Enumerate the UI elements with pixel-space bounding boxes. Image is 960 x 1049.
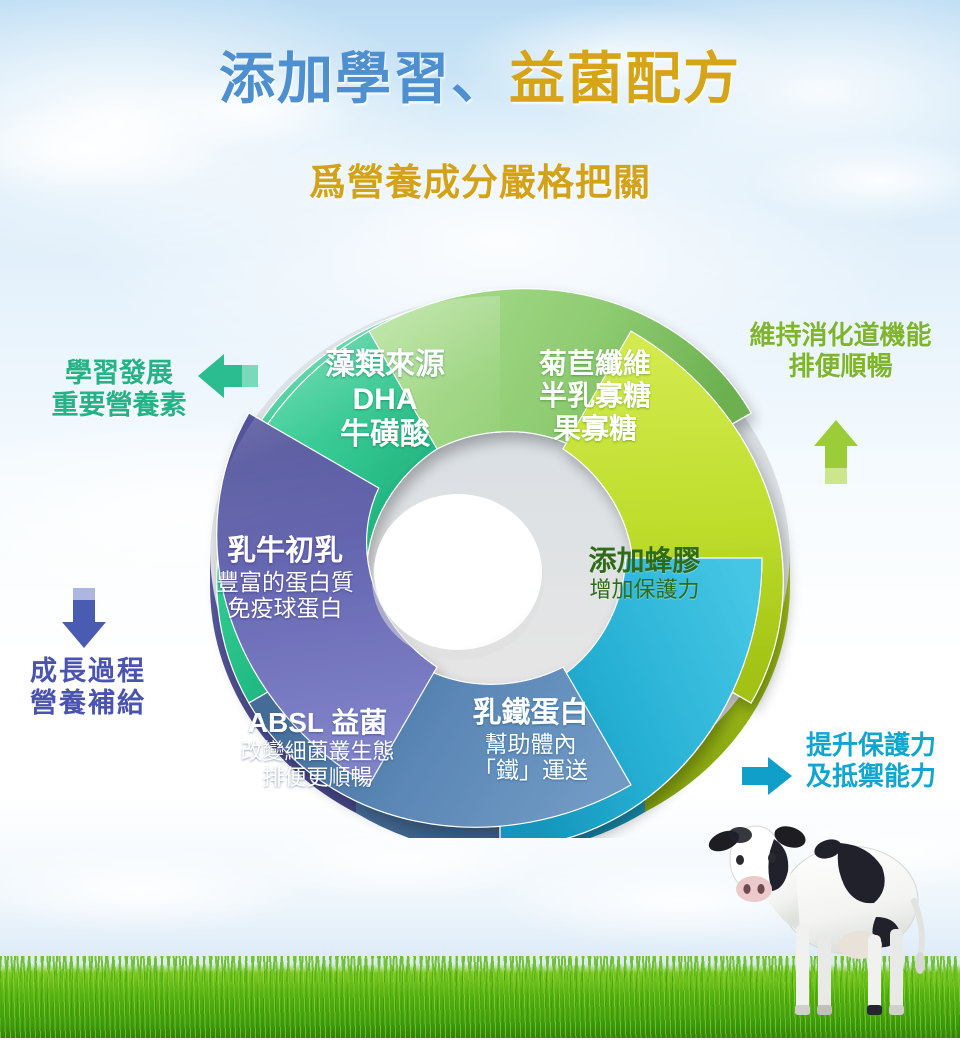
- title-part-blue: 添加學習: [219, 47, 451, 110]
- cow-illustration: [700, 805, 960, 1039]
- donut-hub: [374, 494, 542, 650]
- title-punctuation: 、: [451, 47, 509, 110]
- page-title: 添加學習、益菌配方: [0, 48, 960, 111]
- donut-chart-svg: [190, 258, 810, 838]
- callout-learning: 學習發展 重要營養素: [34, 357, 204, 422]
- callout-digest-line1: 維持消化道機能: [728, 320, 953, 351]
- callout-growth: 成長過程 營養補給: [8, 655, 168, 720]
- infographic-page: 添加學習、益菌配方 爲營養成分嚴格把關: [0, 0, 960, 1049]
- callout-protect-line1: 提升保護力: [782, 730, 960, 761]
- arrow-down-icon: [60, 588, 108, 650]
- arrow-right-icon: [742, 755, 794, 797]
- callout-learning-line2: 重要營養素: [34, 389, 204, 421]
- callout-growth-line2: 營養補給: [8, 687, 168, 719]
- arrow-left-icon: [198, 352, 260, 400]
- callout-protect-line2: 及抵禦能力: [782, 761, 960, 792]
- arrow-up-icon: [812, 420, 860, 486]
- callout-protect: 提升保護力 及抵禦能力: [782, 730, 960, 792]
- callout-growth-line1: 成長過程: [8, 655, 168, 687]
- callout-learning-line1: 學習發展: [34, 357, 204, 389]
- title-part-gold: 益菌配方: [509, 47, 741, 110]
- page-subtitle: 爲營養成分嚴格把關: [0, 152, 960, 206]
- callout-digest-line2: 排便順暢: [728, 351, 953, 382]
- callout-digest: 維持消化道機能 排便順暢: [728, 320, 953, 382]
- bottom-margin: [0, 1038, 960, 1049]
- donut-chart: [190, 258, 810, 838]
